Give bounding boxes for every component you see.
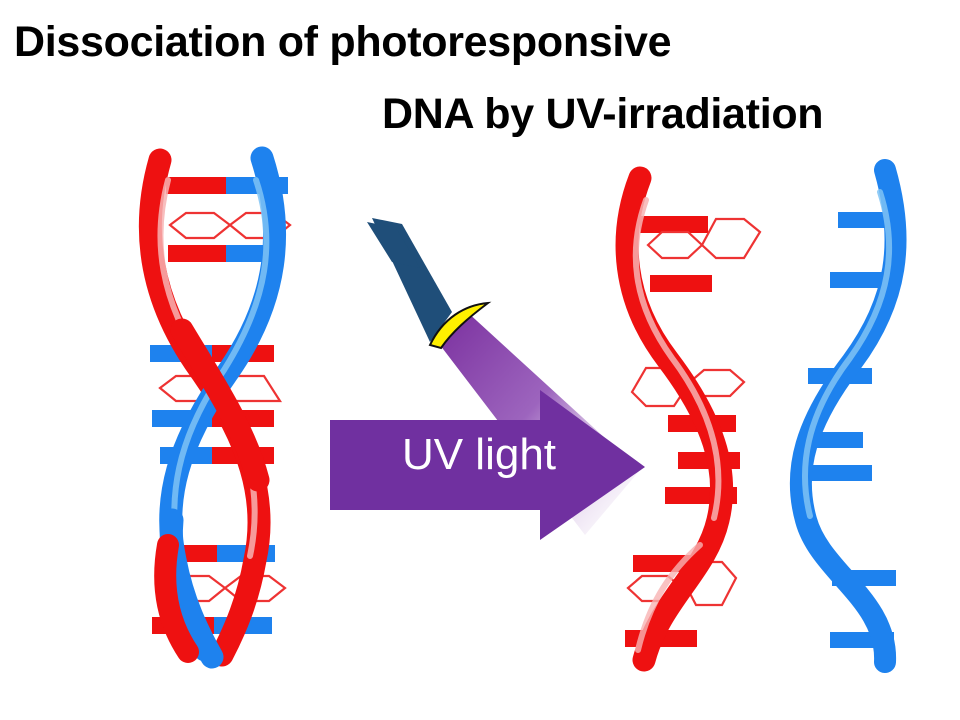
left-double-helix [150,158,290,657]
rung-red [650,275,712,292]
right-red-single-strand [625,178,760,660]
rung-red-half [166,177,226,194]
rung-red [640,216,708,233]
rung-blue [808,465,872,481]
dna-dissociation-figure [0,0,960,720]
slide-canvas: Dissociation of photoresponsive DNA by U… [0,0,960,720]
rung-red-half [168,245,226,262]
right-blue-single-strand [801,170,900,662]
